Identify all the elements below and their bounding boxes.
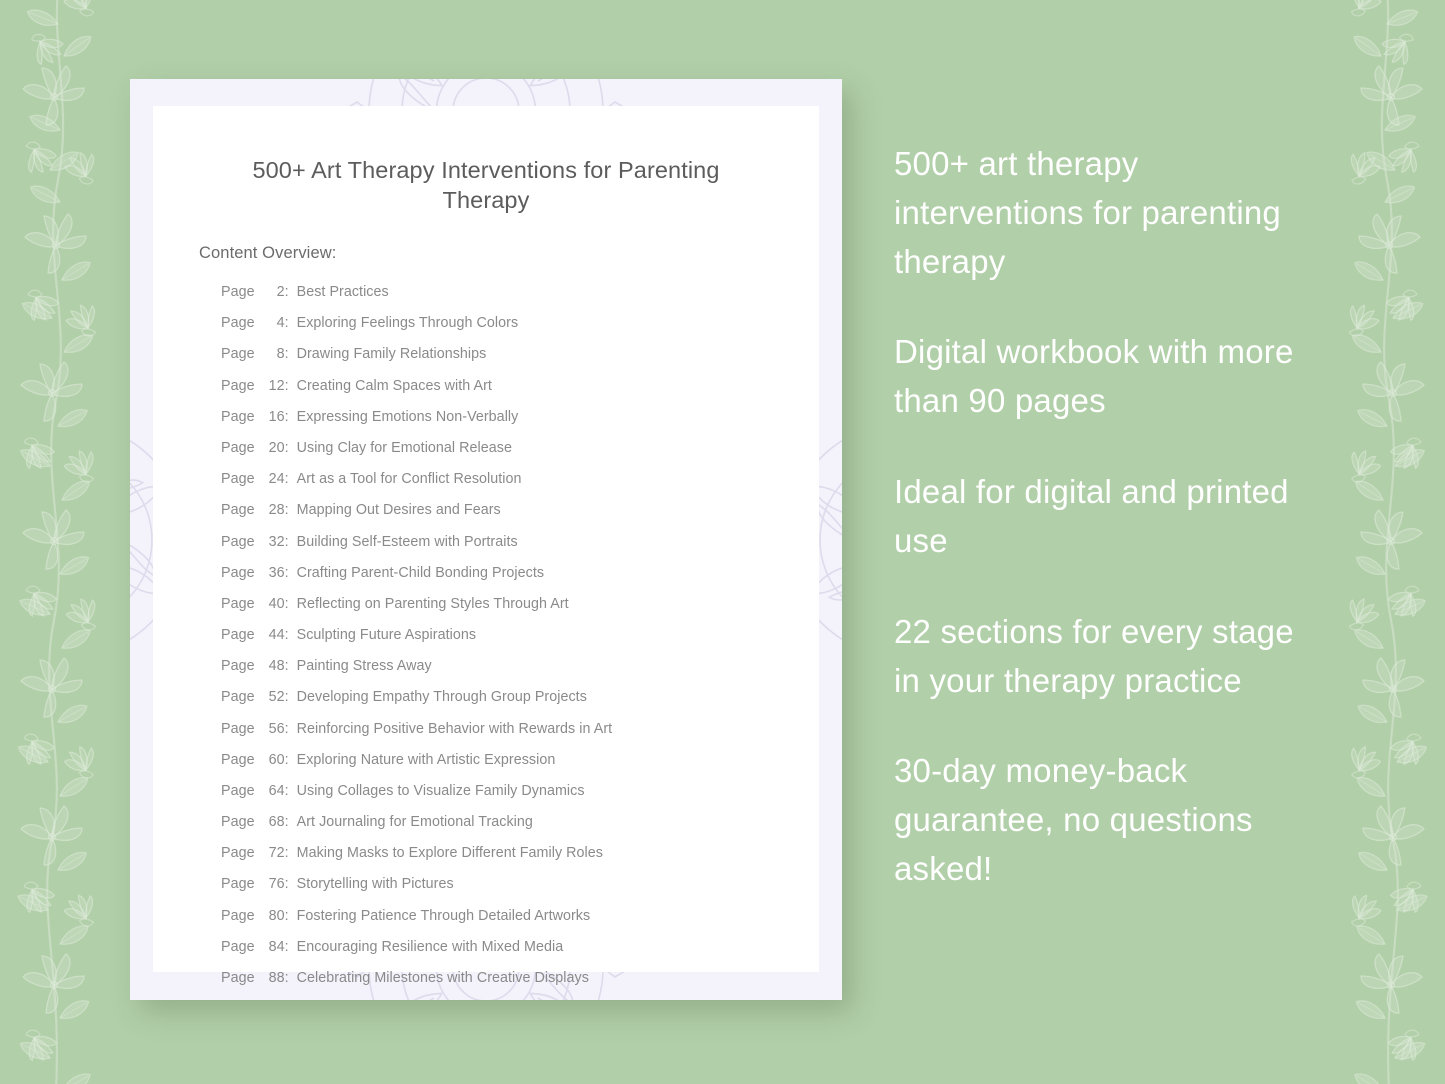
toc-entry-title: Making Masks to Explore Different Family… [297, 846, 603, 860]
toc-page-number: 2 [259, 285, 285, 299]
toc-colon: : [285, 877, 289, 891]
toc-page-word: Page [221, 877, 255, 891]
toc-colon: : [285, 971, 289, 985]
marketing-bullet: Digital workbook with more than 90 pages [894, 328, 1324, 426]
toc-colon: : [285, 909, 289, 923]
toc-entry-title: Crafting Parent-Child Bonding Projects [297, 566, 544, 580]
toc-page-word: Page [221, 566, 255, 580]
toc-colon: : [285, 722, 289, 736]
toc-page-word: Page [221, 909, 255, 923]
toc-entry-title: Creating Calm Spaces with Art [297, 379, 492, 393]
toc-page-number: 76 [259, 877, 285, 891]
content-overview-label: Content Overview: [153, 216, 819, 263]
toc-page-number: 40 [259, 597, 285, 611]
toc-entry-title: Encouraging Resilience with Mixed Media [297, 940, 564, 954]
toc-page-number: 28 [259, 503, 285, 517]
toc-page-number: 52 [259, 690, 285, 704]
toc-page-word: Page [221, 659, 255, 673]
toc-colon: : [285, 410, 289, 424]
toc-entry-title: Expressing Emotions Non-Verbally [297, 410, 519, 424]
toc-page-word: Page [221, 410, 255, 424]
toc-colon: : [285, 441, 289, 455]
toc-colon: : [285, 472, 289, 486]
toc-entry-title: Reflecting on Parenting Styles Through A… [297, 597, 569, 611]
toc-entry-title: Art Journaling for Emotional Tracking [297, 815, 533, 829]
toc-page-number: 72 [259, 846, 285, 860]
toc-colon: : [285, 316, 289, 330]
toc-entry-title: Drawing Family Relationships [297, 347, 487, 361]
toc-entry: Page92:Notes Template [221, 994, 819, 1000]
toc-entry-title: Painting Stress Away [297, 659, 432, 673]
toc-colon: : [285, 347, 289, 361]
toc-page-number: 88 [259, 971, 285, 985]
floral-vine-icon [0, 0, 120, 1084]
toc-entry-title: Fostering Patience Through Detailed Artw… [297, 909, 591, 923]
toc-page-word: Page [221, 441, 255, 455]
toc-page-word: Page [221, 690, 255, 704]
toc-entry: Page64:Using Collages to Visualize Famil… [221, 775, 819, 806]
toc-page-number: 4 [259, 316, 285, 330]
toc-page-number: 24 [259, 472, 285, 486]
toc-page-number: 8 [259, 347, 285, 361]
toc-colon: : [285, 566, 289, 580]
toc-page-word: Page [221, 285, 255, 299]
toc-page-word: Page [221, 722, 255, 736]
toc-page-number: 48 [259, 659, 285, 673]
marketing-bullet: 22 sections for every stage in your ther… [894, 608, 1324, 706]
toc-colon: : [285, 940, 289, 954]
toc-page-word: Page [221, 472, 255, 486]
toc-entry: Page32:Building Self-Esteem with Portrai… [221, 526, 819, 557]
toc-entry-title: Using Clay for Emotional Release [297, 441, 512, 455]
toc-page-word: Page [221, 815, 255, 829]
toc-entry-title: Celebrating Milestones with Creative Dis… [297, 971, 589, 985]
toc-entry: Page28:Mapping Out Desires and Fears [221, 495, 819, 526]
toc-entry: Page20:Using Clay for Emotional Release [221, 433, 819, 464]
table-of-contents: Page2:Best PracticesPage4:Exploring Feel… [153, 263, 819, 1000]
toc-entry: Page88:Celebrating Milestones with Creat… [221, 962, 819, 993]
toc-entry: Page68:Art Journaling for Emotional Trac… [221, 807, 819, 838]
toc-page-word: Page [221, 753, 255, 767]
toc-page-word: Page [221, 347, 255, 361]
toc-entry-title: Exploring Feelings Through Colors [297, 316, 519, 330]
toc-page-number: 20 [259, 441, 285, 455]
toc-page-word: Page [221, 940, 255, 954]
toc-entry-title: Storytelling with Pictures [297, 877, 454, 891]
toc-colon: : [285, 815, 289, 829]
toc-page-number: 80 [259, 909, 285, 923]
workbook-preview-card: 500+ Art Therapy Interventions for Paren… [130, 79, 842, 1000]
toc-page-word: Page [221, 846, 255, 860]
workbook-page: 500+ Art Therapy Interventions for Paren… [153, 106, 819, 972]
toc-entry: Page24:Art as a Tool for Conflict Resolu… [221, 464, 819, 495]
toc-entry-title: Best Practices [297, 285, 389, 299]
toc-colon: : [285, 846, 289, 860]
toc-page-word: Page [221, 503, 255, 517]
toc-entry: Page8:Drawing Family Relationships [221, 339, 819, 370]
toc-entry: Page16:Expressing Emotions Non-Verbally [221, 401, 819, 432]
toc-colon: : [285, 285, 289, 299]
product-listing-image: 500+ Art Therapy Interventions for Paren… [0, 0, 1445, 1084]
toc-page-word: Page [221, 628, 255, 642]
toc-entry-title: Building Self-Esteem with Portraits [297, 535, 518, 549]
toc-entry: Page36:Crafting Parent-Child Bonding Pro… [221, 557, 819, 588]
toc-colon: : [285, 659, 289, 673]
toc-colon: : [285, 628, 289, 642]
floral-vine-icon [1325, 0, 1445, 1084]
toc-entry: Page48:Painting Stress Away [221, 651, 819, 682]
toc-page-number: 12 [259, 379, 285, 393]
toc-page-number: 84 [259, 940, 285, 954]
toc-entry: Page44:Sculpting Future Aspirations [221, 620, 819, 651]
toc-page-number: 44 [259, 628, 285, 642]
toc-entry: Page76:Storytelling with Pictures [221, 869, 819, 900]
toc-colon: : [285, 753, 289, 767]
toc-entry-title: Reinforcing Positive Behavior with Rewar… [297, 722, 613, 736]
toc-page-word: Page [221, 379, 255, 393]
toc-page-number: 32 [259, 535, 285, 549]
toc-entry: Page60:Exploring Nature with Artistic Ex… [221, 744, 819, 775]
toc-colon: : [285, 597, 289, 611]
toc-entry: Page40:Reflecting on Parenting Styles Th… [221, 588, 819, 619]
toc-colon: : [285, 690, 289, 704]
toc-colon: : [285, 379, 289, 393]
toc-entry-title: Sculpting Future Aspirations [297, 628, 476, 642]
toc-entry: Page12:Creating Calm Spaces with Art [221, 370, 819, 401]
toc-page-word: Page [221, 784, 255, 798]
toc-page-word: Page [221, 316, 255, 330]
toc-entry: Page2:Best Practices [221, 277, 819, 308]
toc-page-word: Page [221, 971, 255, 985]
marketing-bullet: Ideal for digital and printed use [894, 468, 1324, 566]
toc-page-number: 16 [259, 410, 285, 424]
toc-entry: Page4:Exploring Feelings Through Colors [221, 308, 819, 339]
toc-page-number: 56 [259, 722, 285, 736]
toc-page-word: Page [221, 535, 255, 549]
toc-page-number: 68 [259, 815, 285, 829]
toc-colon: : [285, 784, 289, 798]
toc-entry-title: Developing Empathy Through Group Project… [297, 690, 587, 704]
toc-entry-title: Using Collages to Visualize Family Dynam… [297, 784, 585, 798]
marketing-bullet: 30-day money-back guarantee, no question… [894, 747, 1324, 893]
page-title: 500+ Art Therapy Interventions for Paren… [153, 106, 819, 216]
toc-entry: Page84:Encouraging Resilience with Mixed… [221, 931, 819, 962]
toc-colon: : [285, 503, 289, 517]
toc-entry: Page80:Fostering Patience Through Detail… [221, 900, 819, 931]
toc-entry: Page56:Reinforcing Positive Behavior wit… [221, 713, 819, 744]
toc-page-number: 36 [259, 566, 285, 580]
toc-page-number: 64 [259, 784, 285, 798]
marketing-bullet: 500+ art therapy interventions for paren… [894, 140, 1324, 286]
toc-entry: Page72:Making Masks to Explore Different… [221, 838, 819, 869]
toc-page-word: Page [221, 597, 255, 611]
toc-entry-title: Exploring Nature with Artistic Expressio… [297, 753, 556, 767]
marketing-copy-list: 500+ art therapy interventions for paren… [894, 140, 1324, 894]
toc-entry-title: Art as a Tool for Conflict Resolution [297, 472, 522, 486]
toc-entry: Page52:Developing Empathy Through Group … [221, 682, 819, 713]
toc-entry-title: Mapping Out Desires and Fears [297, 503, 501, 517]
toc-page-number: 60 [259, 753, 285, 767]
toc-colon: : [285, 535, 289, 549]
